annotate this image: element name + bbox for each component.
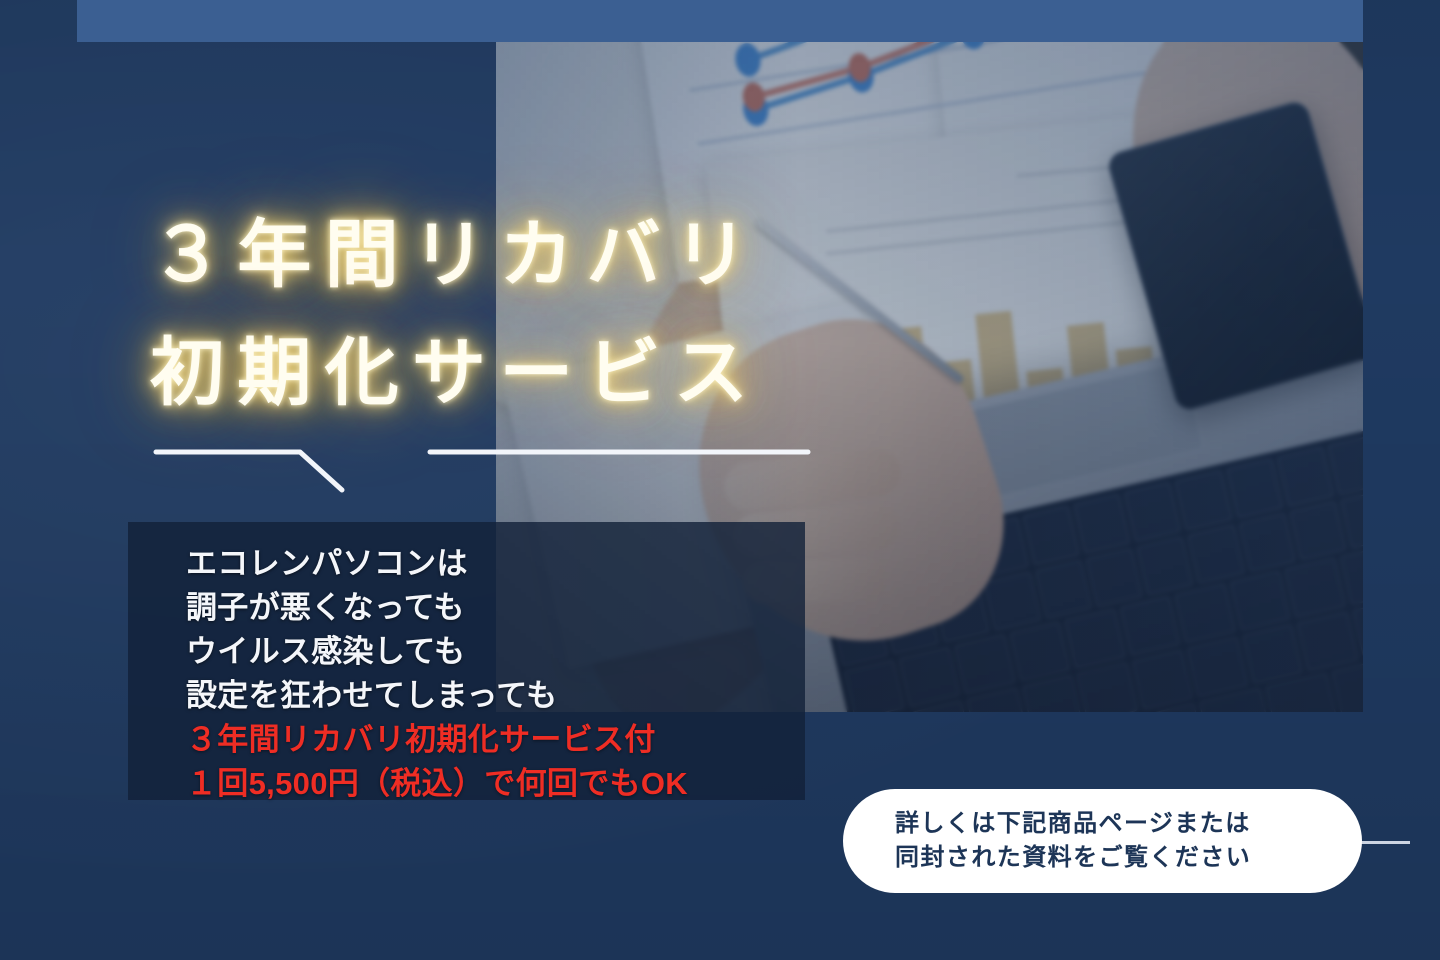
copy-line: 設定を狂わせてしまっても <box>186 674 805 718</box>
info-pill[interactable]: 詳しくは下記商品ページまたは 同封された資料をご覧ください <box>843 789 1362 893</box>
copy-line: ウイルス感染しても <box>186 630 805 674</box>
decorative-bracket <box>152 438 812 500</box>
copy-line-price: １回5,500円（税込）で何回でもOK <box>186 762 805 806</box>
copy-line: エコレンパソコンは <box>186 542 805 586</box>
copy-line: 調子が悪くなっても <box>186 586 805 630</box>
copy-line-highlight: ３年間リカバリ初期化サービス付 <box>186 718 805 762</box>
pill-line-1: 詳しくは下記商品ページまたは <box>895 807 1362 841</box>
pill-line-2: 同封された資料をご覧ください <box>895 841 1362 875</box>
copy-box: エコレンパソコンは 調子が悪くなっても ウイルス感染しても 設定を狂わせてしまっ… <box>128 522 805 800</box>
banner-root: ３年間リカバリ 初期化サービス エコレンパソコンは 調子が悪くなっても ウイルス… <box>0 0 1440 960</box>
top-accent-bar <box>77 0 1363 42</box>
